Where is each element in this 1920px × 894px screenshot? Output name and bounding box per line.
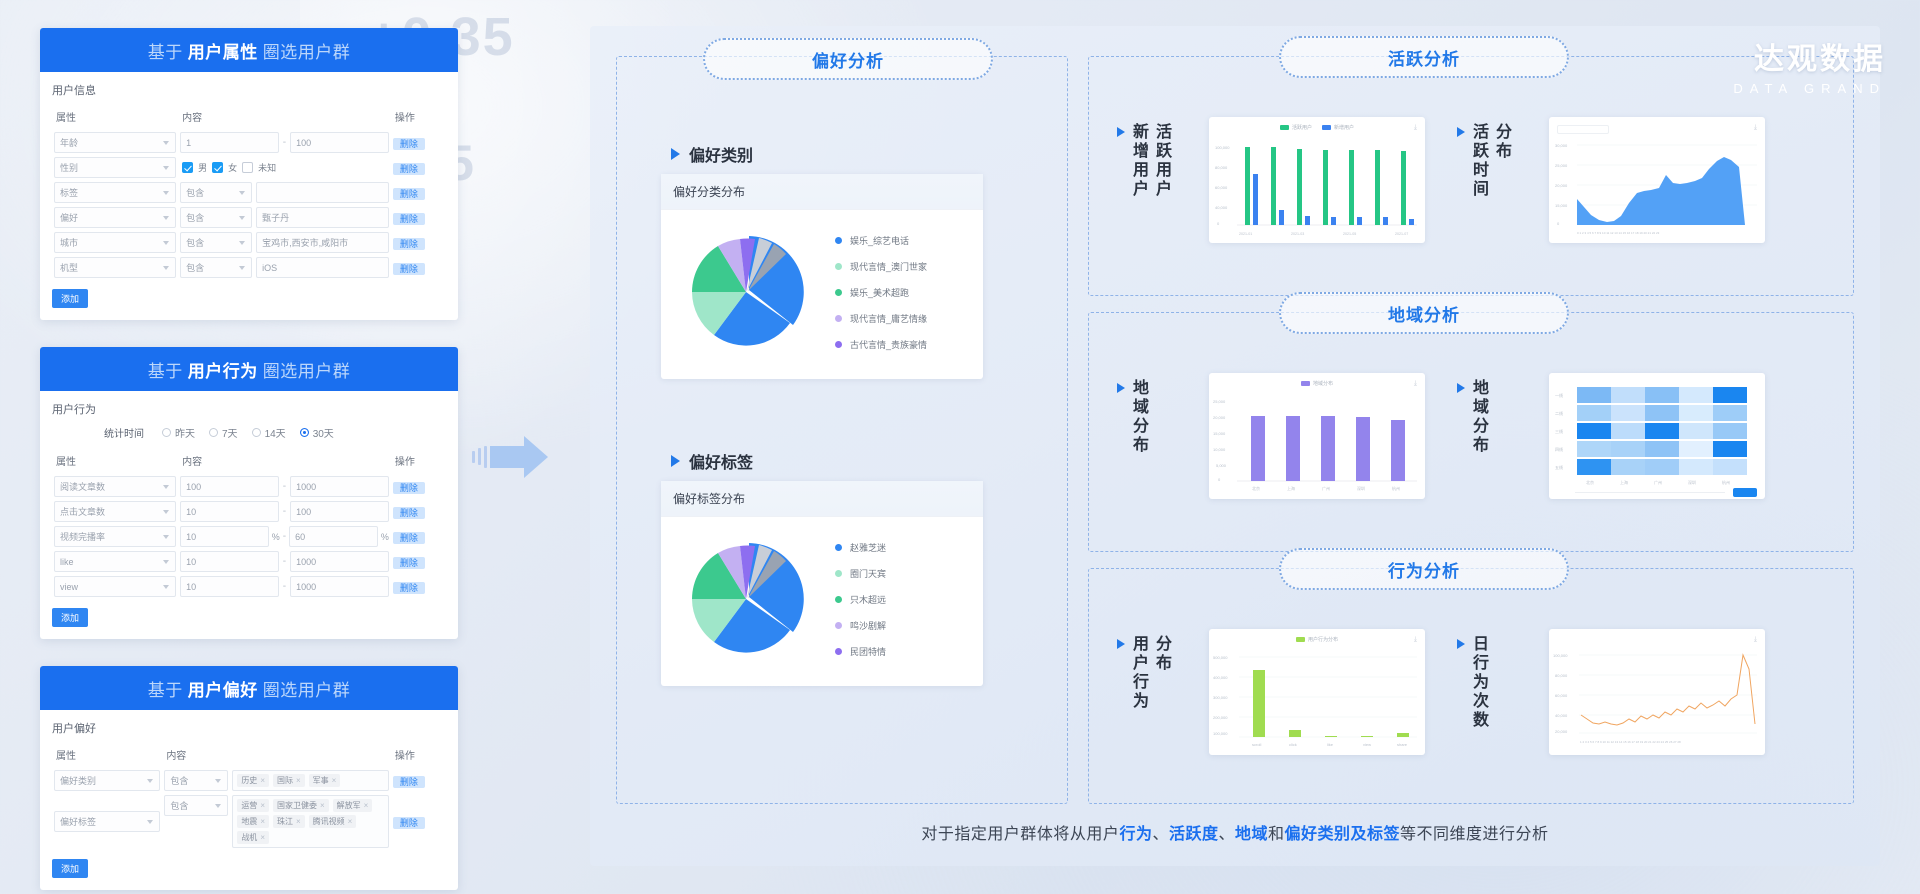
card-header: 基于 用户属性 圈选用户群	[40, 28, 458, 72]
svg-text:300,000: 300,000	[1213, 695, 1228, 700]
svg-text:0: 0	[1218, 477, 1221, 482]
legend-item: 赵雅芝迷	[835, 541, 983, 554]
section-title: 用户偏好	[52, 720, 446, 736]
table-row: 年龄 1 - 100 删除	[52, 130, 446, 155]
svg-text:广州: 广州	[1654, 479, 1662, 485]
svg-text:30,000: 30,000	[1555, 143, 1568, 148]
arrow-tick-marks	[472, 446, 487, 468]
value-input[interactable]: iOS	[256, 257, 389, 278]
attr-select[interactable]: like	[54, 551, 176, 572]
max-input[interactable]: 1000	[290, 551, 389, 572]
table-row: 视频完播率 10 % - 60 % 删除	[52, 524, 446, 549]
svg-text:2021-07: 2021-07	[1395, 232, 1408, 236]
checkbox-unknown-label: 未知	[258, 161, 276, 174]
delete-link[interactable]: 删除	[393, 507, 425, 519]
caption-sep-2: 、	[1218, 826, 1235, 843]
card-title-highlight: 用户行为	[188, 357, 258, 382]
attr-select[interactable]: 城市	[54, 232, 176, 253]
table-row: view 10 - 1000 删除	[52, 574, 446, 599]
col-action: 操作	[391, 450, 446, 474]
card-body: 用户行为 统计时间 昨天 7天 14天 30天 属性 内容 操作 阅读文章数 1	[40, 391, 458, 639]
col-content: 内容	[178, 106, 391, 130]
triangle-icon	[1117, 383, 1125, 393]
table-row: 点击文章数 10 - 100 删除	[52, 499, 446, 524]
triangle-icon	[1457, 383, 1465, 393]
svg-text:80,000: 80,000	[1215, 165, 1228, 170]
delete-link[interactable]: 删除	[393, 163, 425, 175]
checkbox-female[interactable]	[212, 162, 223, 173]
svg-text:杭州: 杭州	[1722, 479, 1730, 485]
preference-category-chart-card: 偏好分类分布	[661, 174, 983, 379]
svg-text:四线: 四线	[1555, 446, 1563, 452]
col-attr: 属性	[52, 450, 178, 474]
behavior-bar-chart: 用户行为分布 ⤓ 500,000400,000 300,000200,000 1…	[1209, 629, 1425, 755]
svg-text:10,000: 10,000	[1213, 447, 1226, 452]
triangle-icon	[1457, 127, 1465, 137]
caption-keyword-activity: 活跃度	[1169, 826, 1219, 843]
svg-text:40,000: 40,000	[1215, 205, 1228, 210]
behavior-line-chart: ⤓ 100,00080,000 60,00040,00020,000 1 2 3…	[1549, 629, 1765, 755]
svg-text:广州: 广州	[1322, 485, 1330, 491]
card-title-prefix: 基于	[148, 676, 183, 701]
active-pill-title: 活跃分析	[1279, 36, 1569, 78]
delete-link[interactable]: 删除	[393, 532, 425, 544]
tag-chip: 运营×	[237, 799, 269, 812]
behavior-analysis-section: 行为分析 用户行为 分布 用户行为分布 ⤓ 500,000400,000 300…	[1088, 568, 1854, 804]
radio-14days[interactable]: 14天	[252, 425, 286, 440]
tag-input[interactable]: 运营× 国家卫健委× 解放军× 地震× 珠江× 腾讯视频× 战机×	[232, 795, 389, 848]
card-body: 用户信息 属性 内容 操作 年龄 1 - 100 删除	[40, 72, 458, 320]
svg-text:深圳: 深圳	[1688, 479, 1696, 485]
svg-text:三线: 三线	[1555, 428, 1563, 434]
table-row: 偏好类别 包含 历史× 国际× 军事× 删除	[52, 768, 446, 793]
preference-table: 属性 内容 操作 偏好类别 包含 历史× 国际× 军事× 删除	[52, 744, 446, 850]
svg-text:25,000: 25,000	[1213, 399, 1226, 404]
slider-track[interactable]	[1575, 492, 1725, 493]
table-row: 性别 男 女 未知 删除	[52, 155, 446, 180]
tag-chip: 国际×	[273, 774, 305, 787]
preference-tag-label: 偏好标签	[689, 449, 753, 473]
svg-text:北京: 北京	[1252, 485, 1260, 491]
tag-chip: 珠江×	[273, 815, 305, 828]
max-input[interactable]: 100	[290, 501, 389, 522]
legend-item: 娱乐_美术超跑	[835, 286, 983, 299]
svg-text:100,000: 100,000	[1553, 653, 1568, 658]
svg-text:2021-01: 2021-01	[1239, 232, 1252, 236]
svg-text:click: click	[1289, 742, 1297, 747]
attr-select[interactable]: 偏好	[54, 207, 176, 228]
max-input[interactable]: 100	[290, 132, 389, 153]
svg-text:20,000: 20,000	[1213, 415, 1226, 420]
pie-legend-1: 娱乐_综艺电话 现代言情_澳门世家 娱乐_美术超跑 现代言情_庸艺情缘 古代言情…	[831, 234, 983, 351]
svg-text:scroll: scroll	[1252, 742, 1261, 747]
svg-text:60,000: 60,000	[1555, 693, 1568, 698]
min-input[interactable]: 10	[180, 526, 269, 547]
add-button[interactable]: 添加	[52, 859, 88, 878]
behavior-table: 属性 内容 操作 阅读文章数 100 - 1000 删除 点击文章数	[52, 450, 446, 599]
preference-tag-chart-card: 偏好标签分布	[661, 481, 983, 686]
tag-remove-icon: ×	[332, 776, 337, 785]
svg-text:500,000: 500,000	[1213, 655, 1228, 660]
date-filter[interactable]	[1557, 125, 1609, 134]
table-row: 标签 包含 删除	[52, 180, 446, 205]
caption-sep-1: 、	[1152, 826, 1169, 843]
condition-select[interactable]: 包含	[164, 795, 228, 816]
legend-item: 只木超远	[835, 593, 983, 606]
table-header-row: 属性 内容 操作	[52, 106, 446, 130]
delete-link[interactable]: 删除	[393, 263, 425, 275]
radio-yesterday[interactable]: 昨天	[162, 425, 195, 440]
caption-keyword-preference: 偏好类别及标签	[1285, 826, 1401, 843]
table-row: 阅读文章数 100 - 1000 删除	[52, 474, 446, 499]
card-title-prefix: 基于	[148, 357, 183, 382]
delete-link[interactable]: 删除	[393, 188, 425, 200]
preference-pill-title: 偏好分析	[703, 38, 993, 80]
table-row: 偏好 包含 甄子丹 删除	[52, 205, 446, 230]
tag-chip: 历史×	[237, 774, 269, 787]
condition-select[interactable]: 包含	[180, 182, 252, 203]
tag-remove-icon: ×	[348, 817, 353, 826]
tag-chip: 解放军×	[333, 799, 373, 812]
region-pill-title: 地域分析	[1279, 292, 1569, 334]
caption-keyword-behavior: 行为	[1119, 826, 1152, 843]
brand-name-cn: 达观数据	[1733, 34, 1886, 78]
card-title-suffix: 圈选用户群	[263, 676, 351, 701]
triangle-icon	[1117, 127, 1125, 137]
col-action: 操作	[391, 106, 446, 130]
chart-title: 偏好分类分布	[661, 174, 983, 210]
tag-chip: 腾讯视频×	[309, 815, 357, 828]
legend-item: 娱乐_综艺电话	[835, 234, 983, 247]
section-title: 用户信息	[52, 82, 446, 98]
card-title-highlight: 用户偏好	[188, 676, 258, 701]
condition-select[interactable]: 包含	[180, 207, 252, 228]
tag-input[interactable]: 历史× 国际× 军事×	[232, 770, 389, 791]
svg-text:上海: 上海	[1287, 485, 1295, 491]
attr-select[interactable]: 年龄	[54, 132, 176, 153]
col-content: 内容	[162, 744, 391, 768]
min-input[interactable]: 1	[180, 132, 279, 153]
range-dash: -	[283, 137, 286, 148]
max-input[interactable]: 1000	[290, 476, 389, 497]
condition-select[interactable]: 包含	[180, 232, 252, 253]
tag-chip: 军事×	[309, 774, 341, 787]
attr-select[interactable]: 视频完播率	[54, 526, 176, 547]
card-title-suffix: 圈选用户群	[263, 38, 351, 63]
region-heatmap: 一线二线三线 四线五线 北京上海广州 深圳杭州	[1549, 373, 1765, 499]
legend-item: 现代言情_澳门世家	[835, 260, 983, 273]
behavior-pill-title: 行为分析	[1279, 548, 1569, 590]
table-header-row: 属性 内容 操作	[52, 744, 446, 768]
legend-item: 民团特情	[835, 645, 983, 658]
triangle-icon	[1457, 639, 1465, 649]
value-input[interactable]	[256, 182, 389, 203]
region-left-label: 地域分布	[1117, 379, 1208, 455]
min-input[interactable]: 10	[180, 551, 279, 572]
svg-text:60,000: 60,000	[1215, 185, 1228, 190]
attr-select[interactable]: 偏好类别	[54, 770, 160, 791]
legend-item: 现代言情_庸艺情缘	[835, 312, 983, 325]
svg-text:0: 0	[1217, 221, 1220, 226]
tag-remove-icon: ×	[260, 801, 265, 810]
svg-text:share: share	[1397, 742, 1408, 747]
svg-text:0 1 2 3 4 5 6 7 8 9 10 11 12 1: 0 1 2 3 4 5 6 7 8 9 10 11 12 13 14 15 16…	[1577, 231, 1660, 235]
tag-remove-icon: ×	[296, 776, 301, 785]
percent-sign-max: %	[381, 532, 389, 542]
card-user-behavior: 基于 用户行为 圈选用户群 用户行为 统计时间 昨天 7天 14天 30天 属性…	[40, 347, 458, 639]
value-input[interactable]: 甄子丹	[256, 207, 389, 228]
max-input[interactable]: 1000	[290, 576, 389, 597]
svg-text:20,000: 20,000	[1555, 729, 1568, 734]
legend-item: 古代言情_贵族豪情	[835, 338, 983, 351]
value-input[interactable]: 宝鸡市,西安市,咸阳市	[256, 232, 389, 253]
apply-button[interactable]	[1733, 488, 1757, 497]
svg-text:100,000: 100,000	[1213, 731, 1228, 736]
svg-text:1 2 3 4 5 6 7 8 9 10 11 12 13: 1 2 3 4 5 6 7 8 9 10 11 12 13 14 15 16 1…	[1580, 740, 1681, 744]
card-body: 用户偏好 属性 内容 操作 偏好类别 包含 历史× 国际× 军事×	[40, 710, 458, 890]
svg-text:15,000: 15,000	[1213, 431, 1226, 436]
attr-select[interactable]: 标签	[54, 182, 176, 203]
delete-link[interactable]: 删除	[393, 776, 425, 788]
card-title-prefix: 基于	[148, 38, 183, 63]
caption-part-5: 等不同维度进行分析	[1400, 826, 1549, 843]
chart-title: 偏好标签分布	[661, 481, 983, 517]
svg-text:2021-03: 2021-03	[1291, 232, 1304, 236]
period-radio-group: 统计时间 昨天 7天 14天 30天	[104, 425, 446, 440]
checkbox-male-label: 男	[198, 161, 207, 174]
pie-chart-2	[661, 538, 831, 660]
caption-part-4: 和	[1268, 826, 1285, 843]
svg-text:view: view	[1363, 742, 1371, 747]
panel-caption: 对于指定用户群体将从用户行为、活跃度、地域和偏好类别及标签等不同维度进行分析	[590, 820, 1880, 844]
region-bar-chart: 地域分布 ⤓ 25,00020,000 15,00010,000 5,0000	[1209, 373, 1425, 499]
table-row: like 10 - 1000 删除	[52, 549, 446, 574]
svg-text:一线: 一线	[1555, 392, 1563, 398]
delete-link[interactable]: 删除	[393, 582, 425, 594]
attr-select[interactable]: 阅读文章数	[54, 476, 176, 497]
delete-link[interactable]: 删除	[393, 557, 425, 569]
tag-chip: 战机×	[237, 831, 269, 844]
svg-text:0: 0	[1557, 221, 1560, 226]
add-button[interactable]: 添加	[52, 608, 88, 627]
svg-text:深圳: 深圳	[1357, 485, 1365, 491]
caption-keyword-region: 地域	[1235, 826, 1268, 843]
svg-text:400,000: 400,000	[1213, 675, 1228, 680]
svg-text:80,000: 80,000	[1555, 673, 1568, 678]
delete-link[interactable]: 删除	[393, 238, 425, 250]
period-label: 统计时间	[104, 425, 144, 440]
checkbox-unknown[interactable]	[242, 162, 253, 173]
attr-select[interactable]: view	[54, 576, 176, 597]
attr-select[interactable]: 性别	[54, 157, 176, 178]
active-users-bar-chart: 活跃用户 新增用户 ⤓ 100,00080,000 60,00040,000 0	[1209, 117, 1425, 243]
col-attr: 属性	[52, 744, 162, 768]
brand-logo: 达观数据 DATA GRAND	[1733, 34, 1886, 96]
active-time-area-chart: ⤓ 30,00025,000 20,00015,000 0 0 1 2 3 4 …	[1549, 117, 1765, 243]
delete-link[interactable]: 删除	[393, 482, 425, 494]
attr-select[interactable]: 机型	[54, 257, 176, 278]
min-input[interactable]: 10	[180, 576, 279, 597]
attribute-table: 属性 内容 操作 年龄 1 - 100 删除 性别 男	[52, 106, 446, 280]
caption-part-1: 对于指定用户群体将从用户	[921, 826, 1119, 843]
preference-category-label: 偏好类别	[689, 142, 753, 166]
card-user-preference: 基于 用户偏好 圈选用户群 用户偏好 属性 内容 操作 偏好类别 包含 历史×	[40, 666, 458, 890]
card-title-suffix: 圈选用户群	[263, 357, 351, 382]
tag-remove-icon: ×	[296, 817, 301, 826]
svg-text:北京: 北京	[1586, 479, 1594, 485]
condition-select[interactable]: 包含	[164, 770, 228, 791]
delete-link[interactable]: 删除	[393, 817, 425, 829]
pie-chart-1	[661, 231, 831, 353]
attr-select[interactable]: 点击文章数	[54, 501, 176, 522]
min-input[interactable]: 10	[180, 501, 279, 522]
tag-remove-icon: ×	[260, 776, 265, 785]
region-analysis-section: 地域分析 地域分布 地域分布 ⤓ 25,00020,000 15,00010,0…	[1088, 312, 1854, 552]
attr-select[interactable]: 偏好标签	[54, 811, 160, 832]
tag-remove-icon: ×	[364, 801, 369, 810]
svg-text:杭州: 杭州	[1392, 485, 1400, 491]
region-right-label: 地域分布	[1457, 379, 1548, 455]
table-row: 机型 包含 iOS 删除	[52, 255, 446, 280]
segmentation-cards-column: 基于 用户属性 圈选用户群 用户信息 属性 内容 操作 年龄 1 - 100	[40, 28, 458, 894]
svg-text:40,000: 40,000	[1555, 713, 1568, 718]
checkbox-male[interactable]	[182, 162, 193, 173]
max-input[interactable]: 60	[289, 526, 378, 547]
col-action: 操作	[391, 744, 446, 768]
tag-chip: 地震×	[237, 815, 269, 828]
card-user-attributes: 基于 用户属性 圈选用户群 用户信息 属性 内容 操作 年龄 1 - 100	[40, 28, 458, 320]
svg-text:5,000: 5,000	[1216, 463, 1227, 468]
condition-select[interactable]: 包含	[180, 257, 252, 278]
svg-text:上海: 上海	[1620, 479, 1628, 485]
preference-analysis-section: 偏好分析 偏好类别 偏好分类分布	[616, 56, 1068, 804]
svg-text:15,000: 15,000	[1555, 203, 1568, 208]
delete-link[interactable]: 删除	[393, 213, 425, 225]
section-title: 用户行为	[52, 401, 446, 417]
legend-item: 圈门天宾	[835, 567, 983, 580]
svg-text:五线: 五线	[1555, 464, 1563, 470]
svg-text:二线: 二线	[1555, 410, 1563, 416]
svg-text:2021-05: 2021-05	[1343, 232, 1356, 236]
table-header-row: 属性 内容 操作	[52, 450, 446, 474]
brand-name-en: DATA GRAND	[1733, 81, 1886, 96]
tag-remove-icon: ×	[320, 801, 325, 810]
triangle-icon	[671, 455, 680, 467]
col-attr: 属性	[52, 106, 178, 130]
table-row: 偏好标签 包含 运营× 国家卫健委× 解放军× 地震× 珠江× 腾讯视频× 战机…	[52, 793, 446, 850]
delete-link[interactable]: 删除	[393, 138, 425, 150]
percent-sign-min: %	[272, 532, 280, 542]
svg-text:like: like	[1327, 742, 1334, 747]
tag-remove-icon: ×	[260, 833, 265, 842]
tag-chip: 国家卫健委×	[273, 799, 329, 812]
col-content: 内容	[178, 450, 391, 474]
preference-category-heading: 偏好类别	[671, 142, 753, 166]
radio-7days[interactable]: 7天	[209, 425, 238, 440]
flow-arrow	[472, 430, 562, 490]
svg-text:20,000: 20,000	[1555, 183, 1568, 188]
add-button[interactable]: 添加	[52, 289, 88, 308]
tag-remove-icon: ×	[260, 817, 265, 826]
pie-legend-2: 赵雅芝迷 圈门天宾 只木超远 鸣沙剧解 民团特情	[831, 541, 983, 658]
triangle-icon	[1117, 639, 1125, 649]
legend-item: 鸣沙剧解	[835, 619, 983, 632]
arrow-icon	[490, 430, 552, 484]
svg-text:200,000: 200,000	[1213, 715, 1228, 720]
min-input[interactable]: 100	[180, 476, 279, 497]
svg-text:25,000: 25,000	[1555, 163, 1568, 168]
svg-text:100,000: 100,000	[1215, 145, 1230, 150]
preference-tag-heading: 偏好标签	[671, 449, 753, 473]
card-header: 基于 用户偏好 圈选用户群	[40, 666, 458, 710]
card-header: 基于 用户行为 圈选用户群	[40, 347, 458, 391]
triangle-icon	[671, 148, 680, 160]
analysis-panel: 偏好分析 偏好类别 偏好分类分布	[590, 26, 1880, 866]
checkbox-female-label: 女	[228, 161, 237, 174]
table-row: 城市 包含 宝鸡市,西安市,咸阳市 删除	[52, 230, 446, 255]
card-title-highlight: 用户属性	[188, 38, 258, 63]
radio-30days[interactable]: 30天	[300, 425, 334, 440]
